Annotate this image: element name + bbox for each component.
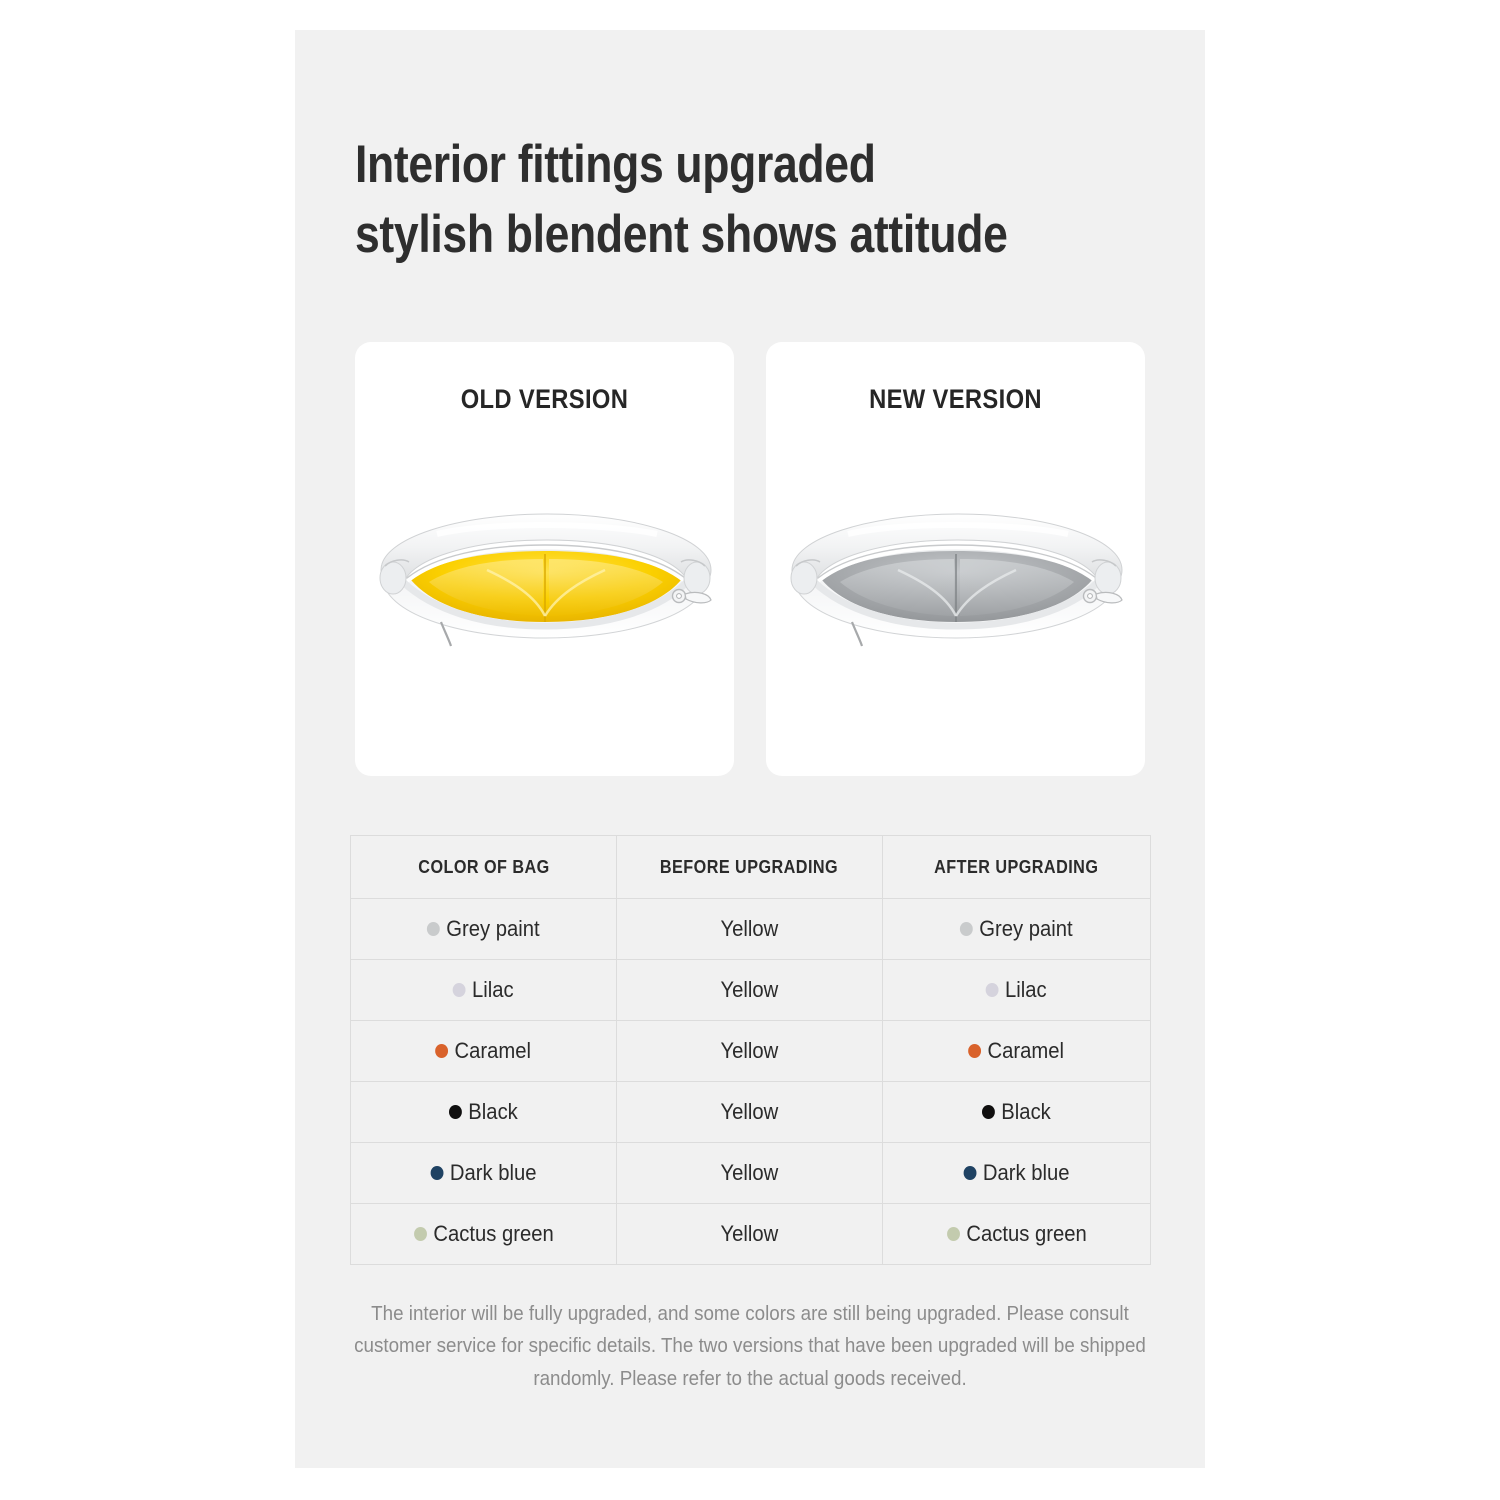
page-title: Interior fittings upgraded stylish blend… bbox=[355, 130, 1027, 271]
cell-before-upgrading: Yellow bbox=[617, 960, 883, 1021]
after-value-label: Black bbox=[1001, 1099, 1050, 1125]
cell-after-upgrading: Lilac bbox=[883, 960, 1151, 1021]
bag-open-grey-lining-image bbox=[778, 504, 1134, 656]
color-swatch-icon bbox=[986, 983, 999, 997]
cell-after-upgrading: Black bbox=[883, 1082, 1151, 1143]
color-comparison-table: COLOR OF BAG BEFORE UPGRADING AFTER UPGR… bbox=[350, 835, 1151, 1265]
color-swatch-icon bbox=[431, 1166, 444, 1180]
table-row: Dark blue Yellow Dark blue bbox=[351, 1143, 1151, 1204]
comparison-cards: OLD VERSION bbox=[355, 342, 1145, 776]
cell-color-of-bag: Dark blue bbox=[351, 1143, 617, 1204]
color-swatch-icon bbox=[964, 1166, 977, 1180]
before-value-label: Yellow bbox=[721, 916, 779, 942]
disclaimer-note: The interior will be fully upgraded, and… bbox=[351, 1298, 1150, 1395]
card-old-version-title: OLD VERSION bbox=[378, 384, 712, 415]
cell-before-upgrading: Yellow bbox=[617, 1021, 883, 1082]
after-value-label: Cactus green bbox=[966, 1221, 1086, 1247]
before-value-label: Yellow bbox=[721, 977, 779, 1003]
table-header-color-of-bag-label: COLOR OF BAG bbox=[418, 857, 549, 878]
table-header-before-upgrading-label: BEFORE UPGRADING bbox=[660, 857, 838, 878]
table-row: Grey paint Yellow Grey paint bbox=[351, 899, 1151, 960]
cell-color-of-bag: Caramel bbox=[351, 1021, 617, 1082]
cell-before-upgrading: Yellow bbox=[617, 899, 883, 960]
color-swatch-icon bbox=[982, 1105, 995, 1119]
content-panel: Interior fittings upgraded stylish blend… bbox=[295, 30, 1205, 1468]
cell-color-of-bag: Lilac bbox=[351, 960, 617, 1021]
cell-after-upgrading: Cactus green bbox=[883, 1204, 1151, 1265]
after-value-label: Caramel bbox=[988, 1038, 1064, 1064]
cell-before-upgrading: Yellow bbox=[617, 1204, 883, 1265]
cell-color-of-bag: Black bbox=[351, 1082, 617, 1143]
card-old-version[interactable]: OLD VERSION bbox=[355, 342, 734, 776]
infographic-canvas: Interior fittings upgraded stylish blend… bbox=[0, 0, 1500, 1500]
color-swatch-icon bbox=[969, 1044, 982, 1058]
color-swatch-icon bbox=[453, 983, 466, 997]
after-value-label: Dark blue bbox=[983, 1160, 1070, 1186]
after-value-label: Lilac bbox=[1005, 977, 1047, 1003]
color-name-label: Grey paint bbox=[446, 916, 539, 942]
color-name-label: Caramel bbox=[455, 1038, 531, 1064]
color-name-label: Dark blue bbox=[450, 1160, 537, 1186]
cell-color-of-bag: Grey paint bbox=[351, 899, 617, 960]
card-new-version-title: NEW VERSION bbox=[789, 384, 1123, 415]
table-header-row: COLOR OF BAG BEFORE UPGRADING AFTER UPGR… bbox=[351, 836, 1151, 899]
cell-after-upgrading: Caramel bbox=[883, 1021, 1151, 1082]
table-row: Black Yellow Black bbox=[351, 1082, 1151, 1143]
color-name-label: Cactus green bbox=[433, 1221, 553, 1247]
cell-after-upgrading: Grey paint bbox=[883, 899, 1151, 960]
before-value-label: Yellow bbox=[721, 1160, 779, 1186]
color-swatch-icon bbox=[427, 922, 440, 936]
color-swatch-icon bbox=[436, 1044, 449, 1058]
color-name-label: Black bbox=[468, 1099, 517, 1125]
cell-before-upgrading: Yellow bbox=[617, 1082, 883, 1143]
table-header-before-upgrading: BEFORE UPGRADING bbox=[617, 836, 883, 899]
page-title-line-2: stylish blendent shows attitude bbox=[355, 200, 1027, 270]
cell-before-upgrading: Yellow bbox=[617, 1143, 883, 1204]
color-swatch-icon bbox=[414, 1227, 427, 1241]
before-value-label: Yellow bbox=[721, 1099, 779, 1125]
table-header-after-upgrading: AFTER UPGRADING bbox=[883, 836, 1151, 899]
before-value-label: Yellow bbox=[721, 1221, 779, 1247]
color-name-label: Lilac bbox=[472, 977, 514, 1003]
table-row: Cactus green Yellow Cactus green bbox=[351, 1204, 1151, 1265]
page-title-line-1: Interior fittings upgraded bbox=[355, 130, 1027, 200]
table-header-after-upgrading-label: AFTER UPGRADING bbox=[934, 857, 1098, 878]
table-row: Caramel Yellow Caramel bbox=[351, 1021, 1151, 1082]
color-swatch-icon bbox=[960, 922, 973, 936]
color-swatch-icon bbox=[449, 1105, 462, 1119]
color-swatch-icon bbox=[947, 1227, 960, 1241]
before-value-label: Yellow bbox=[721, 1038, 779, 1064]
card-new-version[interactable]: NEW VERSION bbox=[766, 342, 1145, 776]
cell-color-of-bag: Cactus green bbox=[351, 1204, 617, 1265]
cell-after-upgrading: Dark blue bbox=[883, 1143, 1151, 1204]
bag-open-yellow-lining-image bbox=[367, 504, 723, 656]
after-value-label: Grey paint bbox=[979, 916, 1072, 942]
table-header-color-of-bag: COLOR OF BAG bbox=[351, 836, 617, 899]
table-row: Lilac Yellow Lilac bbox=[351, 960, 1151, 1021]
